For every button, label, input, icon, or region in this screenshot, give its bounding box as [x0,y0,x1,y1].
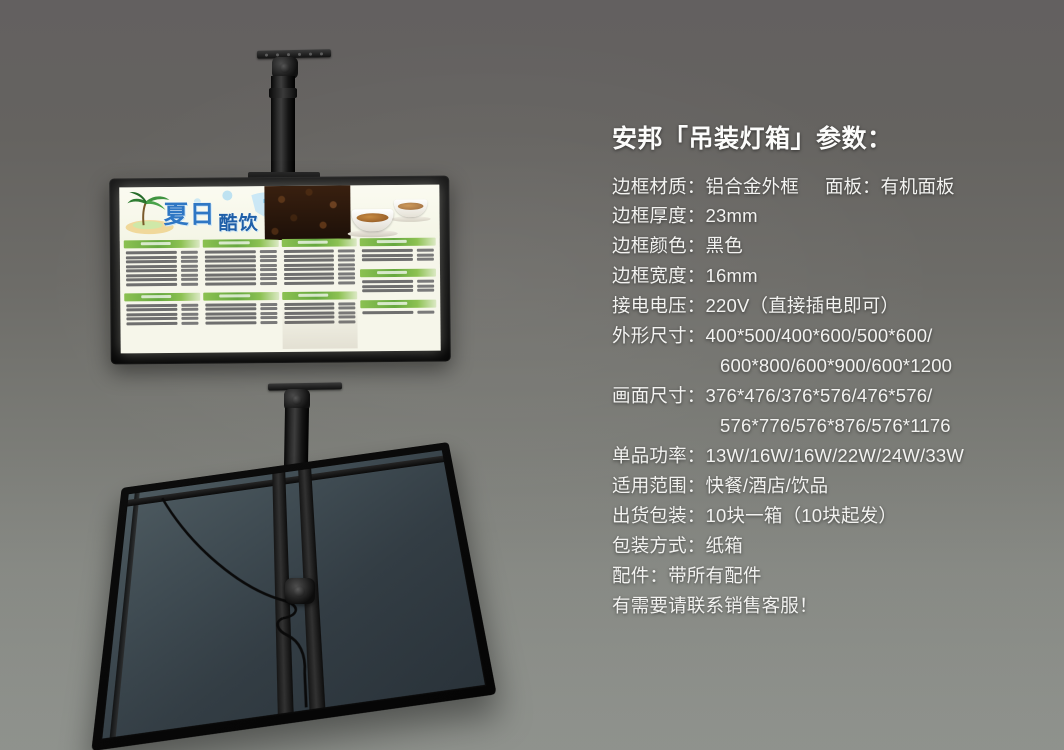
spec-label: 出货包装：10块一箱（10块起发） [612,505,897,526]
section-header [360,269,436,278]
menu-item-row [205,268,277,272]
menu-item-row [283,249,355,253]
menu-rows [361,311,437,315]
menu-column-4 [360,238,437,349]
spec-line: 外形尺寸：400*500/400*600/500*600/ [612,321,1052,351]
menu-item-row [362,249,434,253]
menu-item-row [284,281,356,285]
menu-item-row [205,255,277,259]
spec-line: 适用范围：快餐/酒店/饮品 [612,471,1052,501]
spec-label: 包装方式：纸箱 [612,535,743,556]
menu-rows [281,249,357,284]
menu-item-row [205,250,277,254]
menu-rows [203,250,279,285]
menu-item-row [126,260,198,264]
menu-item-row [362,284,434,288]
menu-rows [124,303,200,325]
spec-line: 配件：带所有配件 [612,561,1052,591]
menu-rows [203,303,279,325]
swivel-pin-icon [294,586,305,597]
menu-photo-overlay [282,302,358,349]
spec-line: 边框颜色：黑色 [612,231,1052,261]
spec-label: 边框宽度：16mm [612,265,758,286]
menu-header: 夏日 酷饮 [119,185,439,242]
menu-rows [360,249,436,262]
menu-item-row [126,278,198,282]
spec-line: 包装方式：纸箱 [612,531,1052,561]
menu-board: 夏日 酷饮 [119,185,440,354]
menu-item-row [362,258,434,262]
menu-rows [124,251,200,286]
menu-item-row [126,317,198,321]
swivel-knob-icon [280,63,290,73]
menu-item-row [126,321,198,325]
menu-sections [120,237,441,354]
menu-item-row [205,277,277,281]
menu-rows [360,280,436,293]
specification-panel: 安邦「吊装灯箱」参数： 边框材质：铝合金外框面板：有机面板 边框厚度：23mm … [612,126,1052,621]
spec-line: 边框材质：铝合金外框面板：有机面板 [612,172,1052,202]
menu-item-row [283,258,355,262]
spec-label: 配件：带所有配件 [612,565,762,586]
menu-item-row [126,312,198,316]
coffee-cup-back [394,198,429,222]
spec-line: 单品功率：13W/16W/16W/22W/24W/33W [612,441,1052,471]
section-header [202,239,278,248]
menu-item-row [126,303,198,307]
section-header [124,292,200,301]
spec-line: 出货包装：10块一箱（10块起发） [612,501,1052,531]
menu-item-row [126,308,198,312]
menu-item-row [205,282,277,286]
menu-item-row [362,280,434,284]
spec-line: 边框厚度：23mm [612,201,1052,231]
spec-label: 边框颜色：黑色 [612,235,743,256]
product-photo-scene: 夏日 酷饮 [0,0,1064,750]
section-header [282,291,358,300]
section-header [281,238,357,247]
page-title: 安邦「吊装灯箱」参数： [612,126,1052,154]
menu-title-main: 夏日 [163,201,215,226]
spec-label: 画面尺寸：376*476/376*576/476*576/ [612,385,933,406]
spec-label: 边框材质：铝合金外框 [612,176,799,197]
menu-item-row [126,264,198,268]
menu-item-row [205,321,277,325]
menu-item-row [284,272,356,276]
spec-line-continued: 576*776/576*876/576*1176 [612,411,1052,441]
spec-label: 576*776/576*876/576*1176 [720,415,951,436]
menu-item-row [205,273,277,277]
coffee-cup-front [351,207,395,237]
spec-label: 600*800/600*900/600*1200 [720,355,952,376]
menu-item-row [205,259,277,263]
spec-label: 适用范围：快餐/酒店/饮品 [612,475,828,496]
mount-plate-holes [268,382,342,383]
menu-item-row [205,316,277,320]
spec-line-continued: 600*800/600*900/600*1200 [612,351,1052,381]
spec-label: 接电电压：220V（直接插电即可） [612,295,899,316]
lightbox-front: 夏日 酷饮 [109,176,451,365]
menu-item-row [205,307,277,311]
spec-line: 接电电压：220V（直接插电即可） [612,291,1052,321]
spec-label: 单品功率：13W/16W/16W/22W/24W/33W [612,445,964,466]
pole-collar [269,88,297,98]
spec-label: 有需要请联系销售客服！ [612,595,818,616]
spec-extra: 面板：有机面板 [825,176,955,197]
menu-item-row [283,263,355,267]
spec-line: 边框宽度：16mm [612,261,1052,291]
menu-item-row [205,312,277,316]
coffee-photo-band [264,185,440,241]
menu-item-row [126,255,198,259]
spec-label: 外形尺寸：400*500/400*600/500*600/ [612,325,933,346]
menu-item-row [126,282,198,286]
swivel-knob-icon [292,395,302,405]
menu-item-row [126,269,198,273]
menu-item-row [126,273,198,277]
section-header [124,240,200,249]
menu-item-row [362,253,434,257]
menu-item-row [283,254,355,258]
menu-item-row [283,267,355,271]
menu-item-row [205,264,277,268]
section-header [360,238,436,247]
spec-label: 边框厚度：23mm [612,205,758,226]
spec-line: 画面尺寸：376*476/376*576/476*576/ [612,381,1052,411]
coffee-beans-image [264,185,351,241]
section-header [203,292,279,301]
menu-item-row [284,276,356,280]
menu-column-1 [124,240,201,351]
spec-list: 边框材质：铝合金外框面板：有机面板 边框厚度：23mm 边框颜色：黑色 边框宽度… [612,172,1052,622]
menu-item-row [126,251,198,255]
frame-edge-strip [110,493,140,738]
spec-cta: 有需要请联系销售客服！ [612,591,1052,621]
menu-column-3 [281,238,358,349]
menu-item-row [363,311,435,315]
menu-item-row [362,289,434,293]
menu-column-2 [202,239,279,350]
menu-title-sub: 酷饮 [219,214,259,233]
section-header [361,300,437,309]
menu-item-row [205,303,277,307]
panel-swivel-hub [285,578,315,604]
